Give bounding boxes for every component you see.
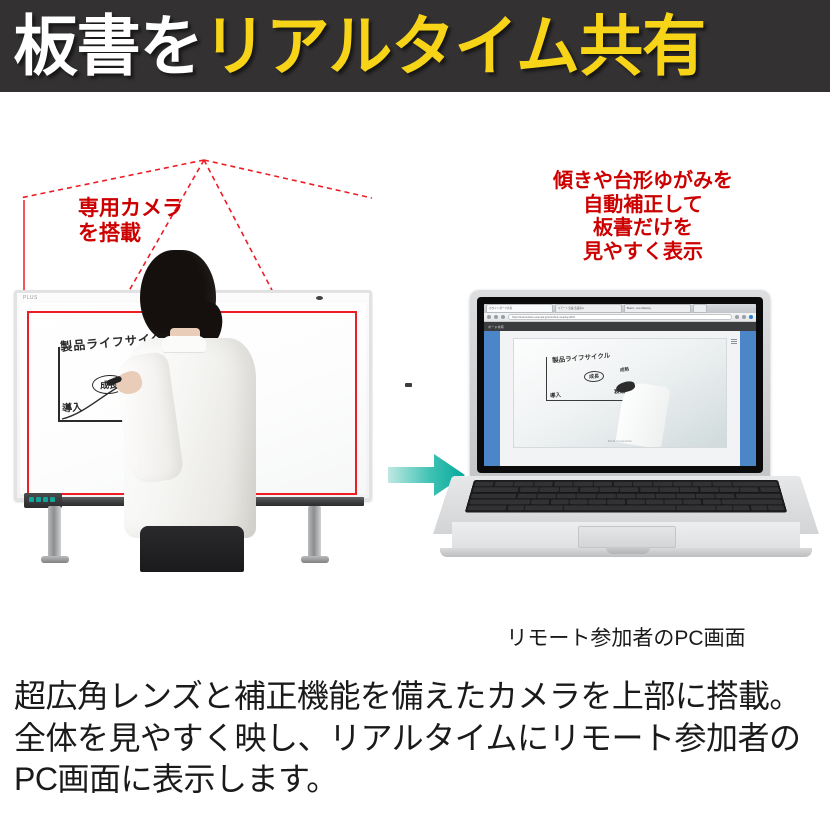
header-title-white: 板書を [14, 13, 203, 79]
laptop-bezel: ホワイトボード共有 リモート会議 会議室A Board - Live Meeti… [477, 297, 763, 473]
address-bar[interactable]: https://board-share.example.jp/room/live… [508, 314, 732, 320]
marker-pen-icon [50, 497, 55, 502]
camera-lens-icon [405, 383, 412, 387]
capture-axis-vertical [546, 357, 547, 400]
keyboard-row [469, 499, 783, 504]
laptop-latch-notch [606, 547, 650, 554]
app-title-bar: ボード共有 [484, 322, 756, 331]
viewport-side-left [484, 331, 500, 466]
description-text: 超広角レンズと補正機能を備えたカメラを上部に搭載。全体を見やすく映し、リアルタイ… [14, 676, 820, 801]
annotation-correction-line-1: 傾きや台形ゆがみを [518, 170, 768, 194]
keyboard-row [467, 505, 784, 510]
whiteboard-sensor-icon [316, 296, 323, 300]
profile-avatar-icon[interactable] [749, 315, 753, 319]
person-writing [118, 250, 268, 580]
marker-pen-icon [36, 497, 41, 502]
capture-handwriting-maturity: 成熟 [620, 366, 630, 373]
marker-pen-icon [29, 497, 34, 502]
viewport-content: 製品ライフサイクル 成長 導入 衰退 成熟 PLUS Corporation [500, 331, 740, 466]
browser-tab-2[interactable]: Board - Live Meeting [624, 304, 691, 313]
capture-handwriting-title: 製品ライフサイクル [552, 349, 611, 364]
person-collar [162, 336, 206, 353]
annotation-correction: 傾きや台形ゆがみを 自動補正して 板書だけを 見やすく表示 [518, 170, 768, 264]
browser-tab-0[interactable]: ホワイトボード共有 [486, 304, 553, 313]
browser-tab-label: ホワイトボード共有 [487, 305, 552, 312]
annotation-camera-line-2: を搭載 [78, 222, 183, 247]
keyboard-row [474, 482, 778, 487]
browser-tab-bar: ホワイトボード共有 リモート会議 会議室A Board - Live Meeti… [484, 304, 756, 313]
laptop-keyboard[interactable] [465, 480, 787, 512]
laptop-base [430, 476, 822, 554]
header-title-yellow: リアルタイム共有 [203, 13, 705, 79]
header-title: 板書をリアルタイム共有 [0, 13, 705, 79]
marker-pen-icon [43, 497, 48, 502]
browser-viewport: 製品ライフサイクル 成長 導入 衰退 成熟 PLUS Corporation [484, 331, 756, 466]
laptop-caption: リモート参加者のPC画面 [430, 622, 822, 652]
page-header: 板書をリアルタイム共有 [0, 0, 830, 92]
browser-tab-label: リモート会議 会議室A [556, 305, 621, 312]
bookmark-icon[interactable] [735, 315, 739, 319]
whiteboard-foot-right [301, 556, 329, 563]
annotation-correction-line-2: 自動補正して [518, 194, 768, 218]
capture-credit-text: PLUS Corporation [514, 440, 725, 443]
laptop: ホワイトボード共有 リモート会議 会議室A Board - Live Meeti… [430, 290, 822, 590]
annotation-camera: 専用カメラ を搭載 [78, 197, 183, 247]
whiteboard-foot-left [41, 556, 69, 563]
laptop-trackpad[interactable] [578, 526, 676, 548]
person-trousers [140, 526, 244, 572]
whiteboard-leg-left [48, 506, 61, 560]
browser-tab-label: Board - Live Meeting [625, 305, 690, 312]
forward-icon[interactable] [494, 315, 498, 319]
extensions-icon[interactable] [742, 315, 746, 319]
whiteboard-leg-right [308, 506, 321, 560]
keyboard-row [471, 493, 781, 498]
capture-handwriting-growth: 成長 [584, 371, 605, 383]
app-title-label: ボード共有 [488, 325, 504, 329]
laptop-screen: ホワイトボード共有 リモート会議 会議室A Board - Live Meeti… [484, 304, 756, 466]
reload-icon[interactable] [501, 315, 505, 319]
back-icon[interactable] [487, 315, 491, 319]
hamburger-menu-icon[interactable] [731, 339, 737, 344]
laptop-lid: ホワイトボード共有 リモート会議 会議室A Board - Live Meeti… [470, 290, 770, 480]
page-root: 板書をリアルタイム共有 専用カメラ を搭載 傾きや台形ゆがみを 自動補正して [0, 0, 830, 830]
viewport-side-right [740, 331, 756, 466]
capture-handwriting-intro: 導入 [550, 390, 562, 399]
browser-new-tab-button[interactable] [693, 304, 707, 313]
annotation-correction-line-3: 板書だけを [518, 217, 768, 241]
browser-tab-1[interactable]: リモート会議 会議室A [555, 304, 622, 313]
keyboard-row [473, 488, 780, 493]
whiteboard-brand-logo: PLUS [23, 295, 38, 301]
annotation-camera-line-1: 専用カメラ [78, 197, 183, 222]
captured-whiteboard-image: 製品ライフサイクル 成長 導入 衰退 成熟 PLUS Corporation [513, 338, 726, 448]
browser-toolbar: https://board-share.example.jp/room/live… [484, 313, 756, 322]
illustration-stage: 専用カメラ を搭載 傾きや台形ゆがみを 自動補正して 板書だけを 見やすく表示 … [0, 92, 830, 667]
annotation-correction-line-4: 見やすく表示 [518, 241, 768, 265]
